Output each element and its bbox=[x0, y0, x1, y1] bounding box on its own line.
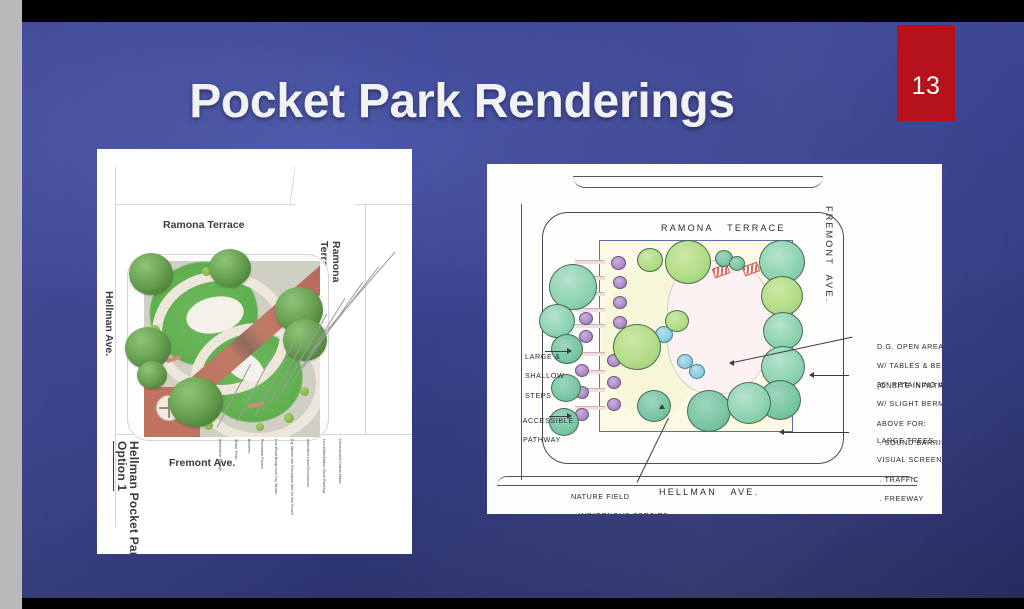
sketch-tree-s3 bbox=[727, 382, 771, 424]
sketch-tree-c2 bbox=[665, 310, 689, 332]
step-5 bbox=[575, 324, 605, 328]
annotation-line: D.G. OPEN AREA bbox=[877, 342, 942, 351]
page-title: Pocket Park Renderings bbox=[22, 74, 902, 129]
blue-shrub-3 bbox=[689, 364, 705, 379]
annotation-line: PATHWAY bbox=[523, 435, 561, 444]
street-edge-top bbox=[115, 204, 295, 205]
annotation-large-shallow-steps: LARGE & SHALLOW STEPS bbox=[499, 342, 564, 410]
shrub-row-a-2 bbox=[613, 276, 627, 289]
arrow-left-icon bbox=[729, 360, 734, 366]
player-gutter-left bbox=[0, 0, 22, 609]
right-rendering-image: RAMONA TERRACE FREMONT AVE. HELLMAN AVE. bbox=[487, 164, 942, 514]
street-edge-top-right bbox=[355, 204, 412, 205]
step-1 bbox=[575, 260, 605, 264]
tree-canopy-nw bbox=[129, 253, 173, 295]
legend-label-5: Dry Stream into Percolation Well for Sit… bbox=[289, 439, 293, 515]
annotation-line: LARGE & bbox=[525, 352, 560, 361]
left-street-label-top: Ramona Terrace bbox=[163, 219, 245, 231]
left-street-label-bottom: Fremont Ave. bbox=[169, 457, 235, 469]
annotation-line: SHALLOW bbox=[525, 371, 564, 380]
annotation-line: NATURE FIELD bbox=[571, 492, 630, 501]
screen: Pocket Park Renderings 13 Ramona Terrace… bbox=[0, 0, 1024, 609]
annotation-leader-trees bbox=[783, 432, 849, 433]
sketch-tree-n4 bbox=[729, 256, 745, 271]
annotation-line: 36" RETAINING WALL bbox=[877, 380, 942, 389]
annotation-line: W/ TABLES & BENCHES bbox=[877, 361, 942, 370]
shrub-row-a-6 bbox=[607, 376, 621, 389]
sketch-tree-w2 bbox=[539, 304, 575, 338]
shrub-6 bbox=[284, 413, 294, 423]
sketch-tree-e2 bbox=[763, 312, 803, 350]
sketch-tree-s2 bbox=[687, 390, 731, 432]
legend-label-0: Interpretive Signage bbox=[217, 439, 221, 471]
left-plan-caption: Hellman Pocket Park bbox=[127, 441, 141, 554]
arrow-left-icon bbox=[779, 429, 784, 435]
legend-label-8: Decomposed Granite Walks bbox=[337, 439, 341, 484]
annotation-leader-pathway bbox=[549, 416, 569, 417]
legend-label-2: Benches bbox=[246, 439, 250, 453]
annotation-line: . FREEWAY bbox=[877, 494, 924, 503]
arrow-right-icon bbox=[567, 413, 572, 419]
annotation-leader-wall bbox=[813, 375, 849, 376]
letterbox-bar-bottom bbox=[22, 598, 1024, 609]
legend-label-3: Permeable Pavers bbox=[259, 439, 263, 469]
shrub-5 bbox=[256, 423, 264, 431]
shrub-row-a-3 bbox=[613, 296, 627, 309]
sketch-tree-n1 bbox=[637, 248, 663, 272]
annotation-large-trees: LARGE TREES VISUAL SCREEN FOR: . TRAFFIC… bbox=[851, 426, 942, 513]
annotation-line: . TRAFFIC bbox=[877, 475, 919, 484]
shrub-row-b-3 bbox=[575, 364, 589, 377]
slide-number-badge: 13 bbox=[897, 25, 955, 121]
annotation-line: STEPS bbox=[525, 391, 552, 400]
annotation-line: VISUAL SCREEN FOR: bbox=[877, 455, 942, 464]
left-plan-option: Option 1 bbox=[113, 441, 129, 491]
shrub-row-a-1 bbox=[611, 256, 626, 270]
tree-canopy-n bbox=[209, 249, 251, 287]
legend-label-6: Alternative Lawn/Groundcover bbox=[305, 439, 309, 487]
annotation-line: . INDIGENOUS SPECIES bbox=[571, 511, 668, 514]
sketch-road-top bbox=[573, 176, 823, 188]
arrow-up-icon bbox=[659, 404, 665, 409]
shrub-row-b-1 bbox=[579, 312, 593, 325]
annotation-nature-field: NATURE FIELD . INDIGENOUS SPECIES . COLO… bbox=[545, 482, 668, 514]
sketch-tree-s1 bbox=[637, 390, 671, 422]
letterbox-bar-top bbox=[22, 0, 1024, 22]
legend-label-7: Low Water/Native Shrub Plantings bbox=[321, 439, 325, 494]
sketch-tree-n2 bbox=[665, 240, 711, 284]
arrow-left-icon bbox=[809, 372, 814, 378]
left-rendering-image: Ramona Terrace Ramona Terrace Hellman Av… bbox=[97, 149, 412, 554]
shrub-row-a-7 bbox=[607, 398, 621, 411]
annotation-accessible-pathway: ACCESSIBLE PATHWAY bbox=[497, 406, 574, 455]
presentation-slide: Pocket Park Renderings 13 Ramona Terrace… bbox=[22, 22, 1024, 598]
annotation-line: W/ SLIGHT BERM bbox=[877, 399, 942, 408]
street-edge-right-inner bbox=[365, 204, 366, 434]
legend-label-1: Shade Trees bbox=[233, 439, 237, 459]
shrub-7 bbox=[300, 387, 309, 396]
left-street-label-left: Hellman Ave. bbox=[103, 291, 115, 356]
sketch-tree-c1 bbox=[613, 324, 661, 370]
sketch-tree-e1 bbox=[761, 276, 803, 316]
tree-canopy-s bbox=[169, 377, 223, 427]
left-site-plan: Ramona Terrace Ramona Terrace Hellman Av… bbox=[97, 149, 412, 554]
annotation-line: LARGE TREES bbox=[877, 436, 934, 445]
right-street-label-bottom: HELLMAN AVE. bbox=[659, 486, 759, 498]
right-site-sketch: RAMONA TERRACE FREMONT AVE. HELLMAN AVE. bbox=[487, 164, 942, 514]
tree-canopy-sw bbox=[137, 361, 167, 389]
annotation-leader-steps bbox=[545, 351, 569, 352]
legend-label-4: Low Wood Bridge over Dry Stream bbox=[273, 439, 277, 494]
slide-number: 13 bbox=[912, 74, 941, 121]
arrow-right-icon bbox=[567, 348, 572, 354]
